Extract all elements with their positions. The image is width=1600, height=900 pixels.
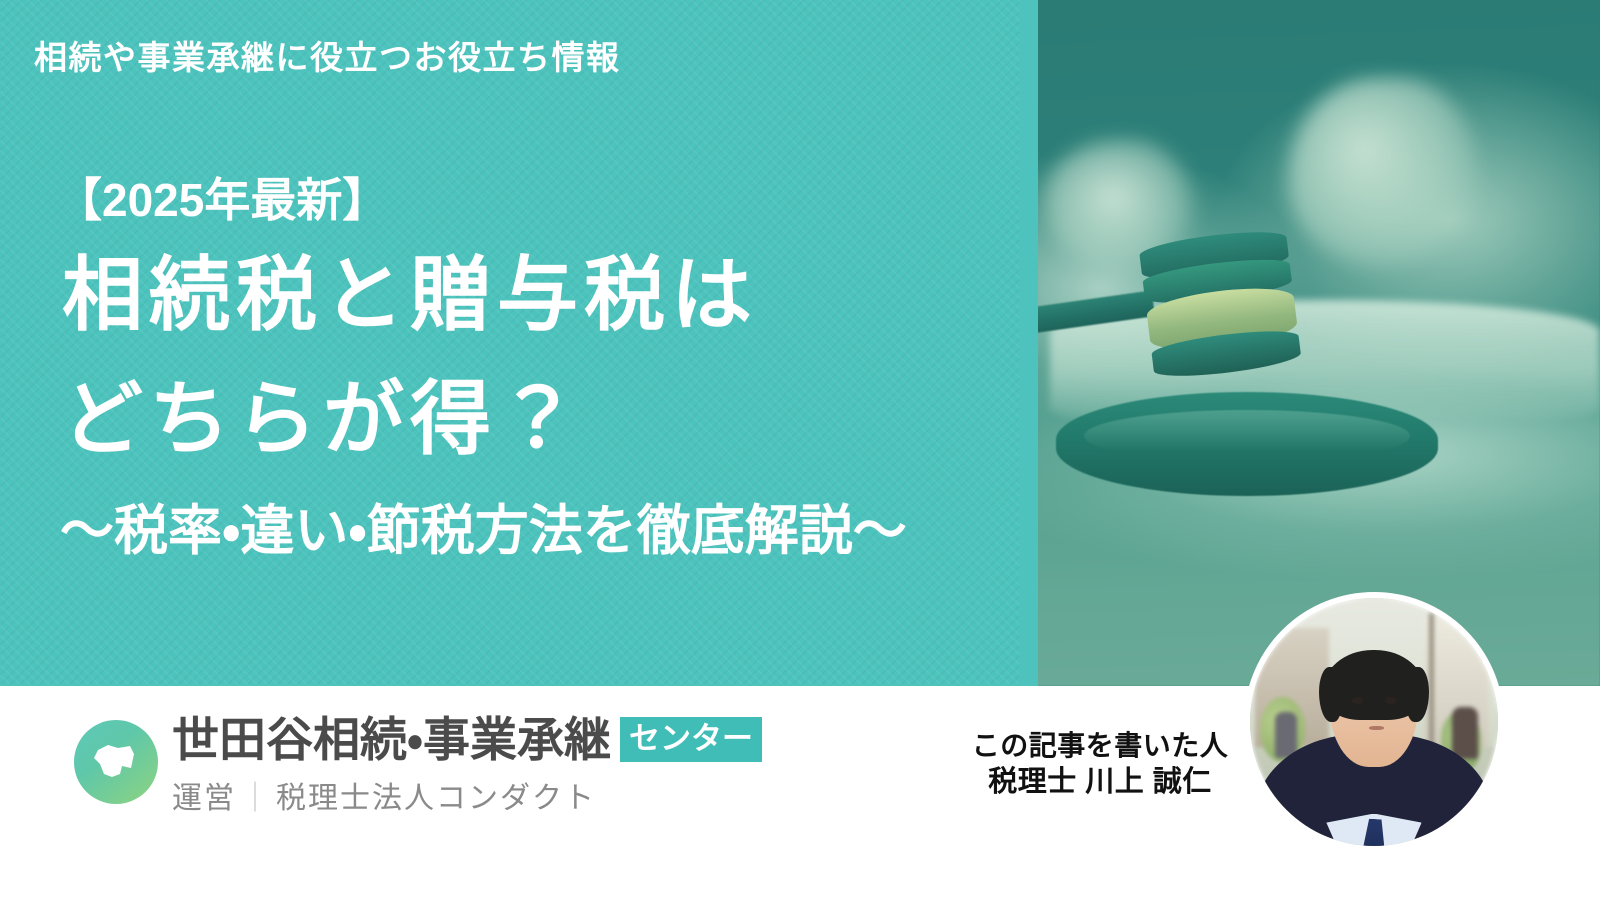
logo-main-text: 世田谷相続・事業承継	[172, 714, 611, 766]
author-label: この記事を書いた人	[960, 728, 1240, 764]
logo-text-block: 世田谷相続・事業承継 センター 運営｜税理士法人コンダクト	[172, 714, 762, 817]
logo-operator-line: 運営｜税理士法人コンダクト	[172, 773, 762, 817]
article-thumbnail-canvas: 相続や事業承継に役立つお役立ち情報 【2025年最新】 相続税と贈与税は どちら…	[0, 0, 1600, 900]
gavel-sound-block	[1056, 392, 1438, 496]
author-portrait	[1244, 592, 1504, 852]
operator-label: 運営	[172, 782, 236, 815]
logo-center-badge: センター	[620, 717, 762, 762]
page-title-line-1: 相続税と贈与税は	[62, 256, 758, 337]
author-info: この記事を書いた人 税理士 川上 誠仁	[960, 728, 1240, 801]
operator-name: 税理士法人コンダクト	[276, 782, 596, 815]
kicker-text: 相続や事業承継に役立つお役立ち情報	[34, 31, 621, 79]
hero-panel: 相続や事業承継に役立つお役立ち情報 【2025年最新】 相続税と贈与税は どちら…	[0, 0, 1020, 686]
page-title-line-2: どちらが得？	[62, 380, 584, 461]
hand-blur-right	[1288, 78, 1478, 268]
year-badge: 【2025年最新】	[56, 164, 388, 230]
gavel-photo	[1020, 0, 1600, 686]
photo-left-edge-strip	[1020, 0, 1038, 686]
operator-divider: ｜	[236, 782, 276, 815]
setagaya-map-logo-icon	[74, 720, 158, 804]
author-name: 税理士 川上 誠仁	[960, 764, 1240, 801]
company-logo[interactable]: 世田谷相続・事業承継 センター 運営｜税理士法人コンダクト	[74, 714, 762, 817]
page-subtitle: 〜税率・違い・節税方法を徹底解説〜	[60, 504, 907, 558]
gavel-head	[1138, 226, 1301, 379]
